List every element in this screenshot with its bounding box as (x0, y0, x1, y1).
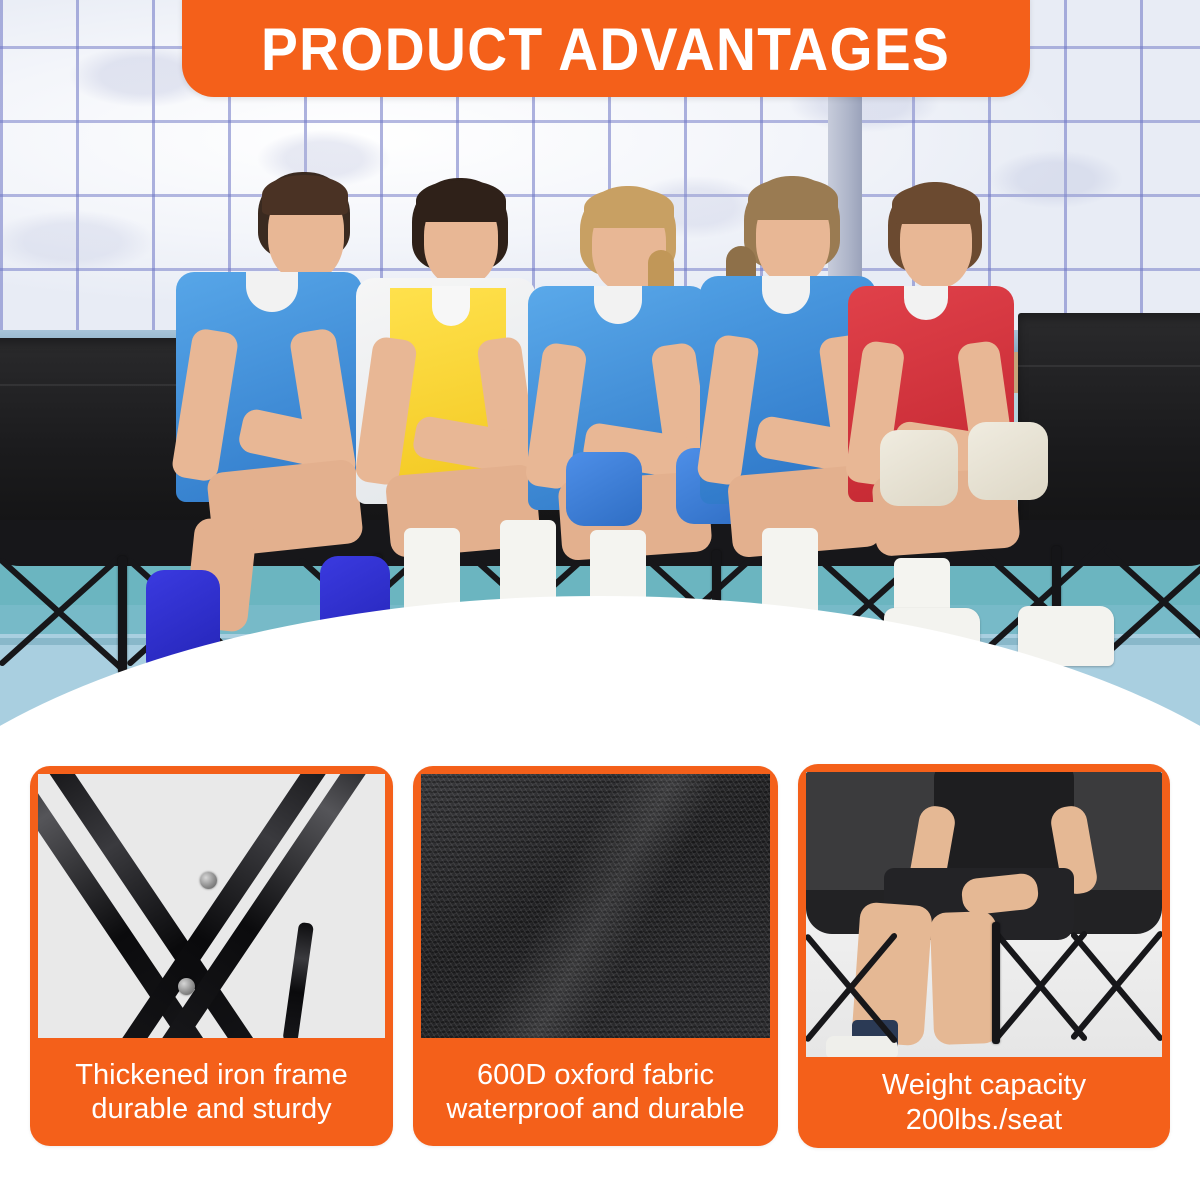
weight-capacity-caption: Weight capacity 200lbs./seat (798, 1057, 1170, 1148)
oxford-fabric-caption: 600D oxford fabric waterproof and durabl… (413, 1038, 778, 1146)
feature-card-weight-capacity[interactable]: Weight capacity 200lbs./seat (798, 764, 1170, 1148)
feature-card-oxford-fabric[interactable]: 600D oxford fabric waterproof and durabl… (413, 766, 778, 1146)
iron-frame-caption: Thickened iron frame durable and sturdy (30, 1038, 393, 1146)
bench-x-leg (1072, 930, 1162, 1042)
iron-frame-image (38, 774, 385, 1038)
caption-line-1: Weight capacity (882, 1068, 1086, 1102)
bench-x-leg (806, 932, 902, 1044)
feature-card-iron-frame[interactable]: Thickened iron frame durable and sturdy (30, 766, 393, 1146)
feature-panels: Thickened iron frame durable and sturdy … (0, 0, 1200, 1200)
caption-line-1: 600D oxford fabric (477, 1058, 714, 1092)
caption-line-1: Thickened iron frame (75, 1058, 347, 1092)
oxford-fabric-image (421, 774, 770, 1038)
product-advantages-infographic: PRODUCT ADVANTAGES Thickened iron frame … (0, 0, 1200, 1200)
weight-capacity-image (806, 772, 1162, 1057)
caption-line-2: waterproof and durable (446, 1092, 744, 1126)
caption-line-2: 200lbs./seat (906, 1103, 1062, 1137)
caption-line-2: durable and sturdy (91, 1092, 331, 1126)
